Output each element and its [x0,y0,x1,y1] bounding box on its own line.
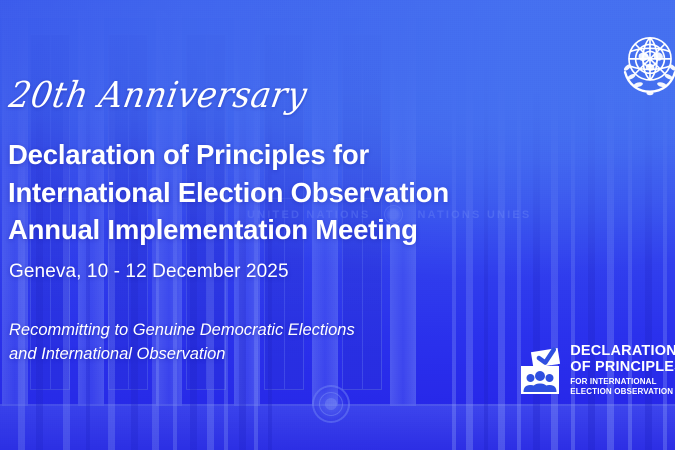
declaration-of-principles-wordmark: DECLARATION OF PRINCIPLES FOR INTERNATIO… [570,344,675,397]
dop-line-4: ELECTION OBSERVATION [570,387,675,397]
event-tagline: Recommitting to Genuine Democratic Elect… [9,319,355,367]
page-title: Declaration of Principles for Internatio… [8,136,449,249]
dop-line-1: DECLARATION [570,344,675,360]
anniversary-eyebrow: 20th Anniversary [7,77,310,113]
page-title-line-2: International Election Observation [8,174,449,212]
declaration-of-principles-logo: DECLARATION OF PRINCIPLES FOR INTERNATIO… [517,344,675,397]
banner-content: 20th Anniversary Declaration of Principl… [0,0,675,450]
page-title-line-1: Declaration of Principles for [8,136,449,174]
un-emblem-icon [611,23,675,101]
event-dateline: Geneva, 10 - 12 December 2025 [9,261,289,283]
ballot-box-with-check-and-people-icon [517,346,563,396]
event-banner: UNITED NATIONS NATIONS UNIES [0,0,675,450]
page-title-line-3: Annual Implementation Meeting [8,211,449,249]
dop-line-3: FOR INTERNATIONAL [570,377,675,387]
dop-line-2: OF PRINCIPLES [570,360,675,376]
event-tagline-line-2: and International Observation [9,343,355,367]
event-tagline-line-1: Recommitting to Genuine Democratic Elect… [9,319,355,343]
